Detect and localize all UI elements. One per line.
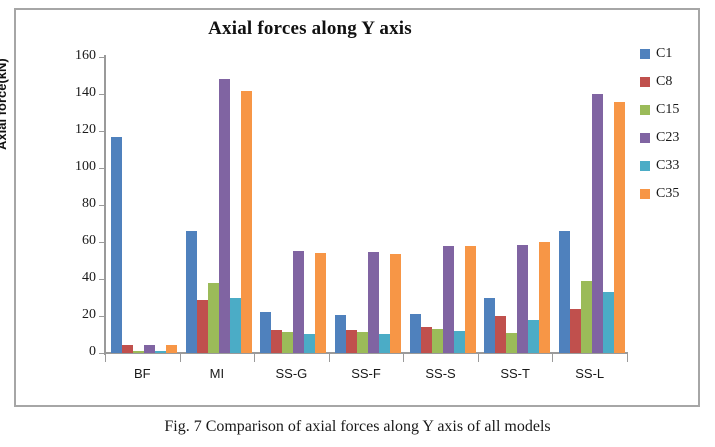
x-tick-mark [552,353,553,362]
x-tick-label: MI [177,366,257,381]
legend-item-c33[interactable]: C33 [640,152,702,180]
bar-c23-mi [219,79,230,353]
bar-c35-ss-f [390,254,401,353]
bar-c35-mi [241,91,252,353]
y-axis-title: Axial force(kN) [0,0,9,150]
bar-c23-bf [144,345,155,353]
legend-item-c23[interactable]: C23 [640,124,702,152]
bar-c8-ss-g [271,330,282,353]
bar-c8-ss-t [495,316,506,353]
bar-c35-bf [166,345,177,353]
legend-swatch-icon [640,189,650,199]
x-tick-label: SS-T [475,366,555,381]
x-tick-label: BF [102,366,182,381]
y-tick-label: 40 [56,270,96,286]
bar-c15-mi [208,283,219,353]
bar-c23-ss-f [368,252,379,353]
bar-group [335,57,401,353]
bar-c1-bf [111,137,122,353]
legend-label: C1 [656,47,672,61]
bar-c8-ss-l [570,309,581,353]
bar-group [484,57,550,353]
legend-item-c8[interactable]: C8 [640,68,702,96]
y-tick-label: 0 [56,344,96,360]
x-tick-mark [180,353,181,362]
bar-c15-ss-s [432,329,443,353]
y-tick-label: 80 [56,196,96,212]
legend-label: C33 [656,159,679,173]
y-tick-label: 120 [56,122,96,138]
bar-c8-ss-s [421,327,432,353]
x-tick-mark [403,353,404,362]
bar-c33-bf [155,351,166,353]
bar-group [111,57,177,353]
plot-area [105,57,627,353]
bar-c8-mi [197,300,208,353]
bar-group [186,57,252,353]
legend-label: C35 [656,187,679,201]
legend-label: C8 [656,75,672,89]
legend-swatch-icon [640,161,650,171]
x-tick-mark [329,353,330,362]
bar-c35-ss-t [539,242,550,353]
bar-c23-ss-t [517,245,528,353]
y-axis-tick-labels: 020406080100120140160 [50,0,96,447]
bar-c8-ss-f [346,330,357,353]
y-tick-label: 100 [56,159,96,175]
bar-c23-ss-s [443,246,454,353]
bar-group [559,57,625,353]
x-tick-mark [105,353,106,362]
bar-c15-bf [133,351,144,353]
bar-c8-bf [122,345,133,353]
bar-c1-ss-f [335,315,346,353]
bar-c33-ss-s [454,331,465,353]
legend-swatch-icon [640,49,650,59]
legend-label: C15 [656,103,679,117]
bar-c1-ss-t [484,298,495,354]
legend-swatch-icon [640,105,650,115]
x-tick-label: SS-L [550,366,630,381]
bar-c33-mi [230,298,241,354]
y-tick-label: 140 [56,85,96,101]
bar-c1-ss-s [410,314,421,353]
bar-c1-mi [186,231,197,353]
bar-c1-ss-g [260,312,271,353]
bar-c35-ss-s [465,246,476,353]
bar-group [410,57,476,353]
x-tick-label: SS-F [326,366,406,381]
bar-c1-ss-l [559,231,570,353]
legend-item-c1[interactable]: C1 [640,40,702,68]
x-tick-label: SS-G [251,366,331,381]
bar-c23-ss-l [592,94,603,353]
chart-legend: C1C8C15C23C33C35 [640,40,702,208]
legend-swatch-icon [640,133,650,143]
legend-swatch-icon [640,77,650,87]
figure-container: Axial forces along Y axis Axial force(kN… [0,0,715,447]
bar-c33-ss-g [304,334,315,353]
y-tick-label: 160 [56,48,96,64]
bar-c33-ss-t [528,320,539,353]
bar-c15-ss-l [581,281,592,353]
legend-label: C23 [656,131,679,145]
x-tick-mark [627,353,628,362]
bar-c15-ss-f [357,332,368,353]
bar-c23-ss-g [293,251,304,353]
x-tick-mark [478,353,479,362]
legend-item-c35[interactable]: C35 [640,180,702,208]
bar-c15-ss-g [282,332,293,353]
bar-c33-ss-f [379,334,390,353]
y-tick-label: 60 [56,233,96,249]
y-tick-label: 20 [56,307,96,323]
bar-c33-ss-l [603,292,614,353]
bar-c35-ss-g [315,253,326,353]
figure-caption: Fig. 7 Comparison of axial forces along … [0,418,715,436]
bar-c15-ss-t [506,333,517,353]
bar-group [260,57,326,353]
x-tick-mark [254,353,255,362]
legend-item-c15[interactable]: C15 [640,96,702,124]
x-tick-label: SS-S [401,366,481,381]
bar-c35-ss-l [614,102,625,353]
